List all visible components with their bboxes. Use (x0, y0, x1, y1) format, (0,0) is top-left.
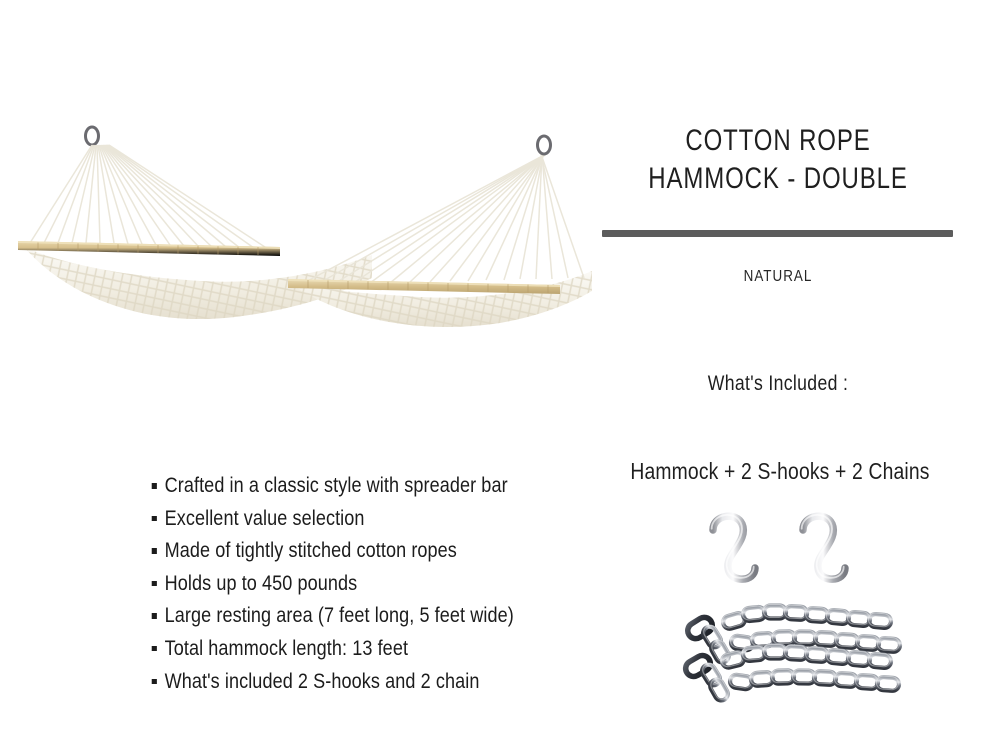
feature-text: Large resting area (7 feet long, 5 feet … (165, 604, 514, 627)
bullet-icon (152, 613, 157, 619)
list-item: Holds up to 450 pounds (150, 568, 528, 601)
feature-text: What's included 2 S-hooks and 2 chain (165, 670, 480, 693)
product-hammock-image (0, 95, 600, 355)
product-title-block: COTTON ROPE HAMMOCK - DOUBLE (600, 122, 956, 198)
s-hooks-image (690, 500, 875, 598)
bullet-icon (152, 483, 157, 489)
list-item: Crafted in a classic style with spreader… (150, 470, 528, 503)
bullet-icon (152, 646, 157, 652)
list-item: What's included 2 S-hooks and 2 chain (150, 666, 528, 699)
bullet-icon (152, 548, 157, 554)
bullet-icon (152, 516, 157, 522)
list-item: Excellent value selection (150, 503, 528, 536)
list-item: Made of tightly stitched cotton ropes (150, 535, 528, 568)
feature-text: Excellent value selection (165, 507, 365, 530)
page-title: COTTON ROPE HAMMOCK - DOUBLE (636, 122, 921, 198)
bullet-icon (152, 581, 157, 587)
title-divider (602, 230, 953, 237)
list-item: Large resting area (7 feet long, 5 feet … (150, 600, 528, 633)
product-feature-list: Crafted in a classic style with spreader… (150, 470, 590, 698)
whats-included-heading: What's Included : (628, 372, 927, 396)
chains-image (668, 596, 913, 708)
bullet-icon (152, 679, 157, 685)
variant-color-label: NATURAL (628, 268, 927, 286)
feature-text: Total hammock length: 13 feet (165, 637, 408, 660)
feature-text: Holds up to 450 pounds (165, 572, 358, 595)
list-item: Total hammock length: 13 feet (150, 633, 528, 666)
product-listing-page: COTTON ROPE HAMMOCK - DOUBLE NATURAL Wha… (0, 0, 1000, 750)
whats-included-contents: Hammock + 2 S-hooks + 2 Chains (629, 458, 931, 485)
feature-text: Made of tightly stitched cotton ropes (165, 539, 457, 562)
feature-text: Crafted in a classic style with spreader… (165, 474, 508, 497)
